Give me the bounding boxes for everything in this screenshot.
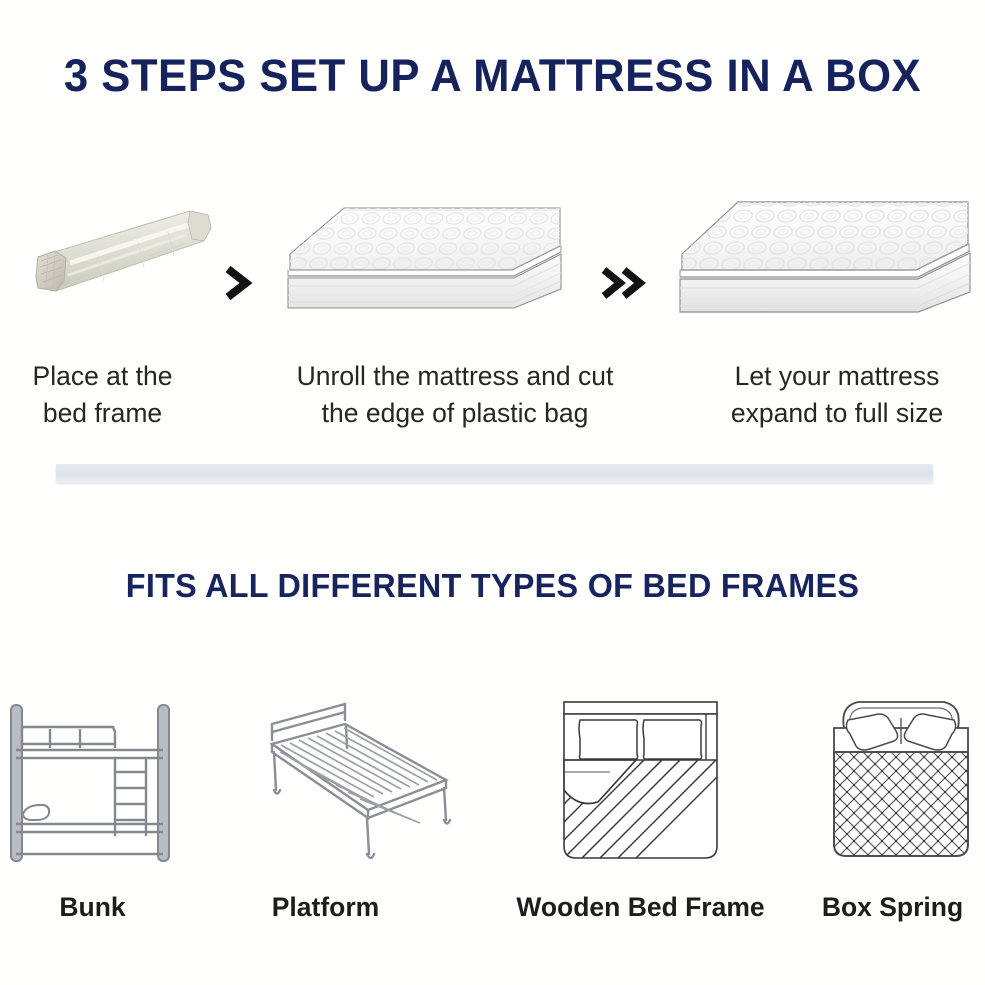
bed-frame-labels: Bunk Platform Wooden Bed Frame Box Sprin…	[0, 892, 985, 936]
bed-frames-row	[0, 688, 985, 868]
bunk-bed-icon	[8, 696, 188, 868]
wooden-bed-frame-icon	[558, 698, 723, 866]
step-1-caption: Place at the bed frame	[0, 358, 205, 431]
page-title: 3 STEPS SET UP A MATTRESS IN A BOX	[15, 50, 970, 102]
section-divider	[56, 464, 933, 483]
setup-steps-row	[0, 175, 985, 335]
bed-frame-label-bunk: Bunk	[0, 892, 185, 923]
bed-frame-label-box-spring: Box Spring	[800, 892, 985, 923]
rolled-mattress-in-plastic-icon	[8, 195, 218, 305]
double-chevron-icon	[600, 264, 648, 302]
box-spring-icon	[826, 694, 976, 866]
step-3-caption: Let your mattress expand to full size	[692, 358, 982, 431]
platform-bed-icon	[250, 702, 460, 867]
bed-frame-label-wooden-bed-frame: Wooden Bed Frame	[478, 892, 803, 923]
step-2-caption: Unroll the mattress and cut the edge of …	[250, 358, 660, 431]
unrolled-mattress-icon	[282, 196, 567, 314]
expanded-mattress-icon	[672, 192, 977, 314]
bed-frame-label-platform: Platform	[228, 892, 423, 923]
setup-steps-captions: Place at the bed frame Unroll the mattre…	[0, 358, 985, 448]
section-title-bed-frames: FITS ALL DIFFERENT TYPES OF BED FRAMES	[10, 567, 975, 605]
single-chevron-icon	[222, 264, 256, 302]
